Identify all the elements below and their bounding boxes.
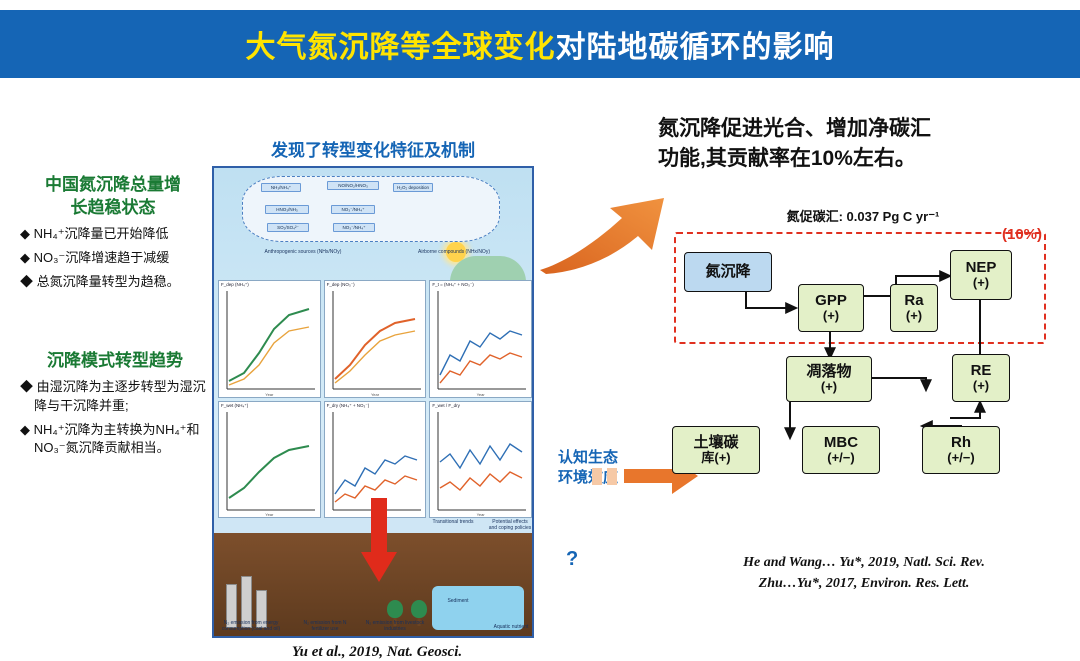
right-figure-caption: He and Wang… Yu*, 2019, Natl. Sci. Rev. … — [654, 552, 1074, 594]
node-sublabel: 库(+) — [701, 451, 730, 466]
figure-label-sediment: Sediment — [438, 599, 478, 605]
node-label: MBC — [824, 434, 858, 451]
node-sublabel: (+) — [973, 276, 989, 291]
node-soil-carbon-pool: 土壤碳 库(+) — [672, 426, 760, 474]
cloud-compound-box: NH₃/NH₄⁺ — [261, 183, 301, 192]
node-ra: Ra (+) — [890, 284, 938, 332]
bullet-item: ◆ NH₄⁺沉降为主转换为NH₄⁺和NO₃⁻氮沉降贡献相当。 — [20, 421, 210, 459]
node-mbc: MBC (+/−) — [802, 426, 880, 474]
mini-chart: F_dep (NH₄⁺) Year — [218, 280, 321, 398]
node-label: 凋落物 — [806, 363, 851, 380]
cloud-compound-box: NO/NO₂/HNO₃ — [327, 181, 379, 190]
title-highlight: 大气氮沉降等全球变化 — [246, 31, 556, 64]
left-panel: 发现了转型变化特征及机制 中国氮沉降总量增长趋稳状态 ◆ NH₄⁺沉降量已开始降… — [6, 96, 646, 604]
figure-label-fertilizer: N₂ emission from N fertilizer use — [296, 621, 354, 632]
node-sublabel: (+) — [906, 309, 922, 324]
node-sublabel: (+) — [823, 309, 839, 324]
bullet-block-1: 中国氮沉降总量增长趋稳状态 ◆ NH₄⁺沉降量已开始降低 ◆ NO₃⁻沉降增速趋… — [20, 174, 206, 291]
node-label: Rh — [951, 434, 971, 451]
mini-chart: F_wet / F_dry Year — [429, 401, 532, 519]
red-down-arrow — [359, 498, 399, 584]
figure-label-livestock: N₂ emission from livestock industries — [364, 621, 426, 632]
figure-water-body — [432, 586, 524, 630]
node-label: Ra — [904, 292, 923, 309]
node-re: RE (+) — [952, 354, 1010, 402]
title-rest: 对陆地碳循环的影响 — [556, 31, 835, 64]
cloud-compound-box: NO₃⁻/NH₄⁺ — [331, 205, 375, 214]
mini-chart-xlabel: Year — [477, 512, 485, 517]
figure-label-coping-policies: Potential effects and coping policies — [488, 520, 532, 531]
node-gpp: GPP (+) — [798, 284, 864, 332]
node-label: GPP — [815, 292, 847, 309]
bullet-block-2-title: 沉降模式转型趋势 — [20, 350, 210, 373]
node-sublabel: (+) — [821, 380, 837, 395]
node-label: RE — [971, 362, 992, 379]
cloud-shape: NH₃/NH₄⁺ NO/NO₂/HNO₃ H₂O₂ deposition HNO… — [242, 176, 500, 242]
mini-chart-xlabel: Year — [371, 392, 379, 397]
figure-label-aquatic: Aquatic nutrient — [490, 625, 532, 631]
right-subheading: 氮促碳汇: 0.037 Pg C yr⁻¹ — [658, 206, 1068, 225]
right-heading: 氮沉降促进光合、增加净碳汇功能,其贡献率在10%左右。 — [658, 114, 1068, 175]
node-nep: NEP (+) — [950, 250, 1012, 300]
caption-line-2: Zhu…Yu*, 2017, Environ. Res. Lett. — [654, 573, 1074, 594]
factory-icon — [222, 564, 292, 628]
right-panel: 氮沉降促进光合、增加净碳汇功能,其贡献率在10%左右。 氮促碳汇: 0.037 … — [650, 100, 1076, 604]
bullet-item: ◆ NH₄⁺沉降量已开始降低 — [20, 225, 206, 244]
question-mark: ? — [566, 548, 578, 571]
node-sublabel: (+/−) — [947, 451, 974, 466]
figure-label-airborne: Airborne compounds (NHx/NOy) — [394, 250, 514, 256]
cloud-compound-box: H₂O₂ deposition — [393, 183, 433, 192]
node-sublabel: (+) — [973, 379, 989, 394]
title-bar: 大气氮沉降等全球变化对陆地碳循环的影响 — [0, 10, 1080, 78]
figure-label-anthropogenic: Anthropogenic sources (NHx/NOy) — [228, 250, 378, 256]
mini-chart: F_wet (NH₄⁺) Year — [218, 401, 321, 519]
node-label: 氮沉降 — [705, 263, 750, 280]
cloud-compound-box: NO₃⁻/NH₄⁺ — [333, 223, 375, 232]
bullet-item: ◆ NO₃⁻沉降增速趋于减缓 — [20, 249, 206, 268]
mini-chart-xlabel: Year — [265, 392, 273, 397]
cloud-compound-box: SO₂/SO₄²⁻ — [267, 223, 309, 232]
mini-chart: F_t = (NH₄⁺ + NO₃⁻) Year — [429, 280, 532, 398]
bullet-item: ◆ 总氮沉降量转型为趋稳。 — [20, 273, 206, 292]
page-title: 大气氮沉降等全球变化对陆地碳循环的影响 — [246, 22, 835, 66]
figure-heading: 发现了转型变化特征及机制 — [218, 136, 528, 161]
carbon-flow-diagram: (10%) 氮沉降 — [650, 230, 1076, 550]
node-label: 土壤碳 — [693, 434, 738, 451]
hill-shape — [450, 256, 526, 282]
node-sublabel: (+/−) — [827, 451, 854, 466]
mini-chart-grid: F_dep (NH₄⁺) Year F_dep (NO₃⁻) Year F_t … — [218, 280, 532, 518]
node-nitrogen-deposition: 氮沉降 — [684, 252, 772, 292]
node-rh: Rh (+/−) — [922, 426, 1000, 474]
node-litter: 凋落物 (+) — [786, 356, 872, 402]
caption-line-1: He and Wang… Yu*, 2019, Natl. Sci. Rev. — [654, 552, 1074, 573]
node-label: NEP — [966, 259, 997, 276]
bullet-block-2: 沉降模式转型趋势 ◆ 由湿沉降为主逐步转型为湿沉降与干沉降并重; ◆ NH₄⁺沉… — [20, 350, 210, 458]
bullet-item: ◆ 由湿沉降为主逐步转型为湿沉降与干沉降并重; — [20, 378, 210, 416]
figure-label-energy: N₂ emission from energy consumption (coa… — [220, 621, 282, 632]
cloud-compound-box: HNO₃/NH₃ — [265, 205, 309, 214]
figure-label-transitional-trends: Transitional trends — [428, 520, 478, 526]
mini-chart-xlabel: Year — [265, 512, 273, 517]
left-figure-caption: Yu et al., 2019, Nat. Geosci. — [212, 644, 542, 661]
nitrogen-deposition-figure: NH₃/NH₄⁺ NO/NO₂/HNO₃ H₂O₂ deposition HNO… — [212, 166, 534, 638]
bullet-block-1-title: 中国氮沉降总量增长趋稳状态 — [20, 174, 206, 220]
mini-chart-xlabel: Year — [477, 392, 485, 397]
mini-chart: F_dep (NO₃⁻) Year — [324, 280, 427, 398]
